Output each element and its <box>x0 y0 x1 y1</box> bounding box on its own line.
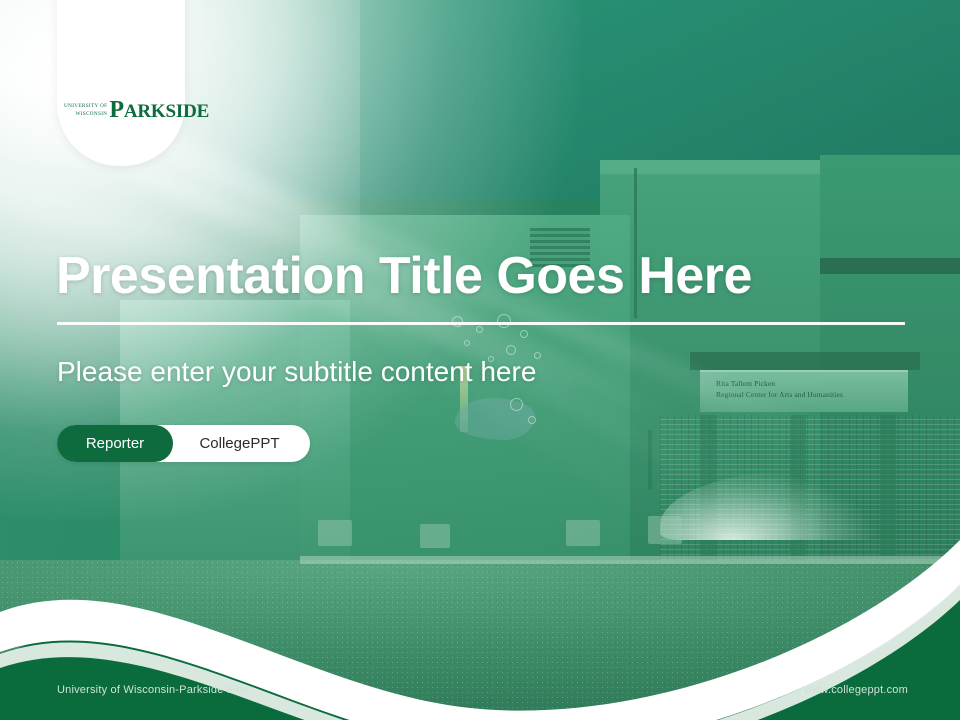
logo-line-wisconsin: WISCONSIN <box>64 111 107 119</box>
mural-circle-icon <box>506 345 516 355</box>
footer-left-text: University of Wisconsin-Parkside Flex <box>57 684 248 696</box>
mural-circle-icon <box>520 330 528 338</box>
mural-circle-icon <box>476 326 483 333</box>
mural-blob-shape <box>455 398 535 440</box>
mural-circle-icon <box>464 340 470 346</box>
building-sign-line-2: Regional Center for Arts and Humanities <box>716 390 906 401</box>
logo-wordmark-rest: ARKSIDE <box>124 101 209 122</box>
footer-right-url[interactable]: www.collegeppt.com <box>804 684 908 696</box>
logo-line-university: UNIVERSITY OF <box>64 103 107 111</box>
logo-university-lines: UNIVERSITY OF WISCONSIN <box>64 103 107 122</box>
presentation-slide: Rita Tallent Picken Regional Center for … <box>0 0 960 720</box>
slide-title: Presentation Title Goes Here <box>56 248 906 304</box>
mural-circle-icon <box>510 398 523 411</box>
slide-subtitle: Please enter your subtitle content here <box>57 355 817 389</box>
logo-wordmark-capital: P <box>109 97 123 123</box>
reporter-label: Reporter <box>57 425 173 462</box>
mural-circle-icon <box>497 314 511 328</box>
university-logo-badge <box>57 0 185 166</box>
building-high-cornice <box>600 160 850 174</box>
reporter-field[interactable]: Reporter CollegePPT <box>57 425 310 462</box>
logo-wordmark: PARKSIDE <box>109 98 209 122</box>
photo-handrail <box>648 430 652 490</box>
reporter-value[interactable]: CollegePPT <box>173 425 310 462</box>
university-logo: UNIVERSITY OF WISCONSIN PARKSIDE <box>64 92 180 122</box>
title-divider <box>57 322 905 325</box>
mural-circle-icon <box>528 416 536 424</box>
